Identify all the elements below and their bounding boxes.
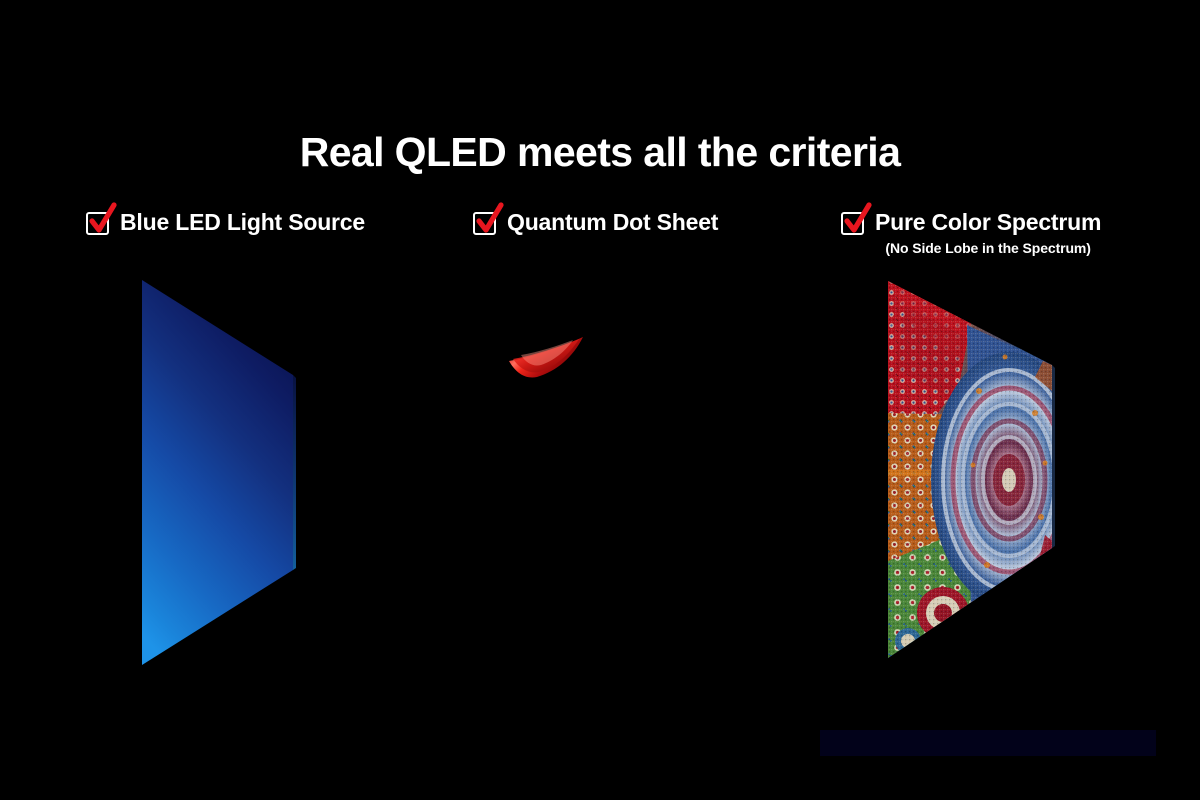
checkbox-blue-led <box>86 212 109 235</box>
page-title: Real QLED meets all the criteria <box>0 130 1200 175</box>
blue-led-panel <box>130 270 310 680</box>
criterion-text-blue-led: Blue LED Light Source <box>120 206 365 238</box>
red-check-mark-icon <box>87 203 117 235</box>
criterion-pure-color-spectrum: Pure Color Spectrum (No Side Lobe in the… <box>841 206 1101 257</box>
criterion-text-pure-color-spectrum: Pure Color Spectrum (No Side Lobe in the… <box>875 206 1101 257</box>
quantum-dot-sheet-panel <box>495 295 725 685</box>
checkbox-quantum-dot <box>473 212 496 235</box>
criterion-text-quantum-dot: Quantum Dot Sheet <box>507 206 718 238</box>
checkbox-pure-color-spectrum <box>841 212 864 235</box>
criterion-quantum-dot-sheet: Quantum Dot Sheet <box>473 206 718 238</box>
criterion-label-pure-color-spectrum: Pure Color Spectrum <box>875 209 1101 235</box>
criterion-label-blue-led: Blue LED Light Source <box>120 209 365 235</box>
red-check-mark-icon <box>842 203 872 235</box>
criterion-label-quantum-dot: Quantum Dot Sheet <box>507 209 718 235</box>
slide-canvas: Real QLED meets all the criteria <box>0 0 1200 800</box>
bottom-glow-band <box>820 730 1156 756</box>
red-check-mark-icon <box>474 203 504 235</box>
criterion-subtitle-pure-color-spectrum: (No Side Lobe in the Spectrum) <box>875 239 1101 257</box>
pure-color-spectrum-panel <box>875 265 1075 675</box>
criterion-blue-led-light-source: Blue LED Light Source <box>86 206 365 238</box>
